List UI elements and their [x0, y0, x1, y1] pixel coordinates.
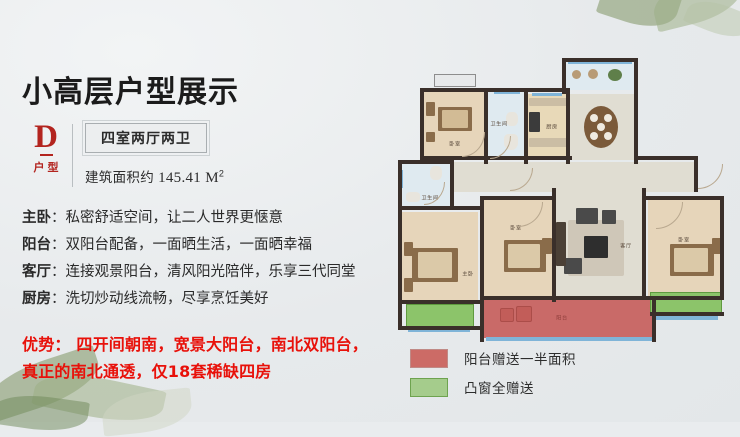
unit-details: 四室两厅两卫 建筑面积约 145.41 M2 [85, 122, 414, 187]
legend-swatch-green [410, 378, 448, 397]
feature-text: 洗切炒动线流畅，尽享烹饪美好 [66, 291, 269, 307]
advantage-block: 优势： 四开间朝南，宽景大阳台，南北双阳台， 真正的南北通透，仅18套稀缺四房 [22, 331, 414, 385]
legend-item-balcony: 阳台赠送一半面积 [410, 348, 576, 368]
legend-swatch-red [410, 349, 448, 368]
feature-text: 双阳台配备，一面晒生活，一面晒幸福 [66, 237, 313, 253]
unit-letter-sublabel: 户型 [25, 159, 70, 175]
feature-row: 主卧：私密舒适空间，让二人世界更惬意 [22, 205, 414, 232]
feature-sep: ： [51, 210, 66, 226]
advantage-line-1: 优势： 四开间朝南，宽景大阳台，南北双阳台， [22, 331, 414, 358]
feature-text: 私密舒适空间，让二人世界更惬意 [66, 210, 284, 226]
unit-letter: D [22, 122, 70, 152]
unit-letter-block: D 户型 [22, 122, 70, 175]
feature-key: 阳台 [22, 237, 51, 253]
baywindow-highlight-west [406, 304, 474, 328]
feature-key: 主卧 [22, 210, 51, 226]
legend: 阳台赠送一半面积 凸窗全赠送 [410, 348, 576, 406]
legend-label: 阳台赠送一半面积 [464, 348, 576, 368]
page-title: 小高层户型展示 [22, 78, 414, 108]
vertical-divider [72, 124, 73, 187]
floorplan-image: 卧室 卫生间 厨房 餐厅 卫生间 [398, 52, 740, 348]
area-prefix: 建筑面积约 [85, 170, 154, 185]
legend-label: 凸窗全赠送 [464, 377, 534, 397]
unit-type-row: D 户型 四室两厅两卫 建筑面积约 145.41 M2 [22, 122, 414, 187]
feature-sep: ： [51, 264, 66, 280]
feature-sep: ： [51, 291, 66, 307]
feature-key: 客厅 [22, 264, 51, 280]
area-line: 建筑面积约 145.41 M2 [85, 166, 414, 187]
feature-key: 厨房 [22, 291, 51, 307]
feature-row: 厨房：洗切炒动线流畅，尽享烹饪美好 [22, 286, 414, 313]
rooms-badge: 四室两厅两卫 [85, 123, 207, 153]
feature-row: 客厅：连接观景阳台，清风阳光陪伴，乐享三代同堂 [22, 259, 414, 286]
feature-list: 主卧：私密舒适空间，让二人世界更惬意 阳台：双阳台配备，一面晒生活，一面晒幸福 … [22, 205, 414, 313]
legend-item-baywindow: 凸窗全赠送 [410, 377, 576, 397]
advantage-line-2: 真正的南北通透，仅18套稀缺四房 [22, 358, 414, 385]
area-value: 145.41 [158, 170, 201, 186]
area-superscript: 2 [219, 169, 224, 179]
area-unit: M [205, 170, 219, 186]
poster-canvas: 小高层户型展示 D 户型 四室两厅两卫 建筑面积约 145.41 M2 主卧：私… [0, 0, 740, 422]
feature-row: 阳台：双阳台配备，一面晒生活，一面晒幸福 [22, 232, 414, 259]
feature-text: 连接观景阳台，清风阳光陪伴，乐享三代同堂 [66, 264, 356, 280]
feature-sep: ： [51, 237, 66, 253]
text-column: 小高层户型展示 D 户型 四室两厅两卫 建筑面积约 145.41 M2 主卧：私… [22, 78, 414, 385]
